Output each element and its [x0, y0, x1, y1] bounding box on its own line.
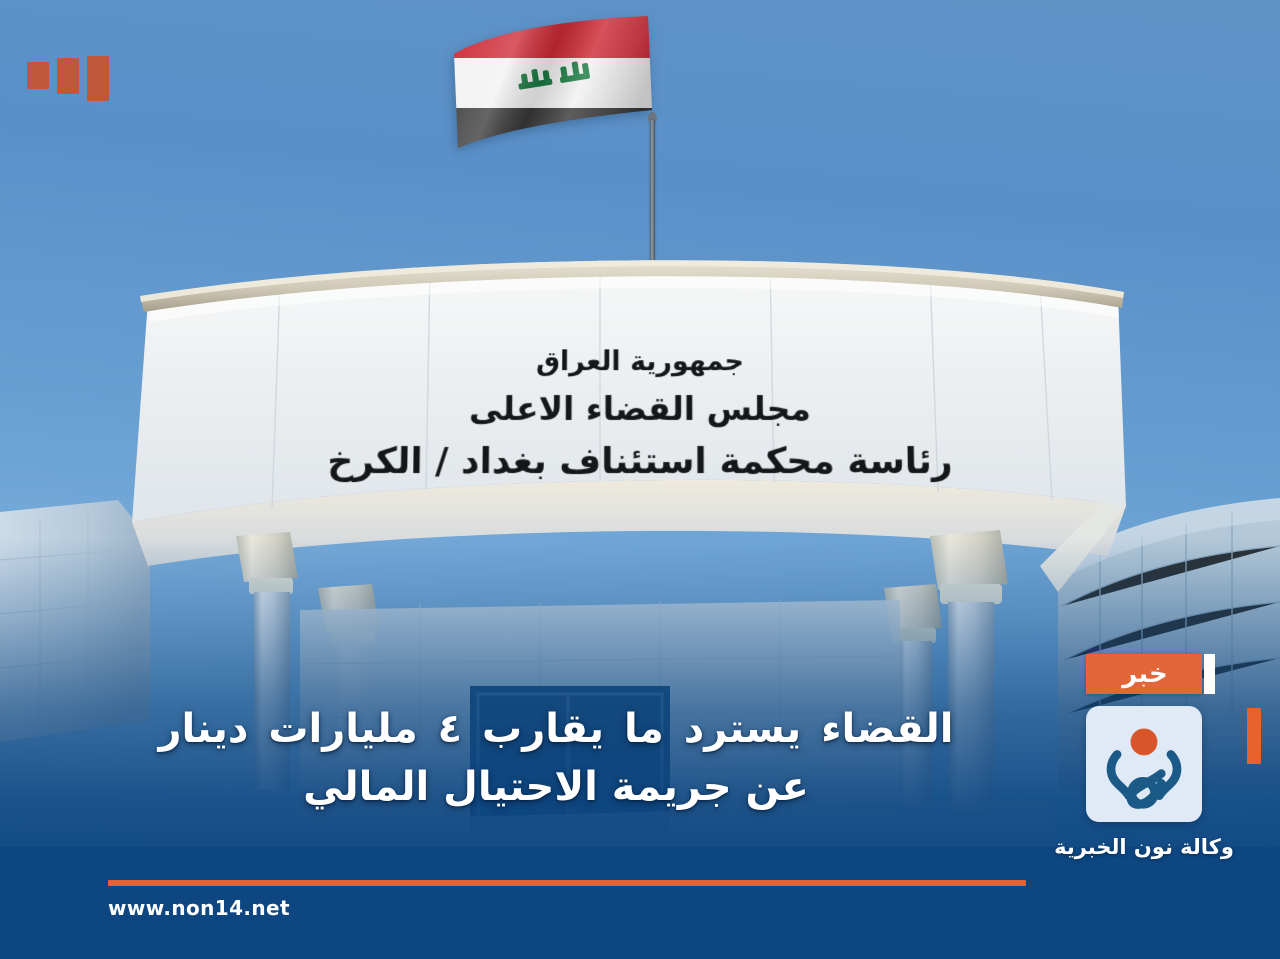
facade-sign: جمهورية العراق مجلس القضاء الاعلى رئاسة …: [0, 344, 1280, 486]
facade-sign-line-1: جمهورية العراق: [1, 344, 1278, 379]
news-badge-label: خبر: [1122, 661, 1168, 687]
noon-agency-logo: [1086, 706, 1202, 822]
headline-line-2: عن جريمة الاحتيال المالي: [60, 758, 1052, 816]
headline-accent-bar: [1247, 708, 1261, 764]
news-badge: خبر: [1086, 654, 1202, 694]
site-url[interactable]: www.non14.net: [108, 896, 290, 920]
headline-line-1: القضاء يسترد ما يقارب ٤ مليارات دينار: [60, 700, 1052, 758]
facade-sign-line-3: رئاسة محكمة استئناف بغداد / الكرخ: [0, 439, 1280, 486]
agency-name: وكالة نون الخبرية: [1054, 835, 1234, 859]
three-bars-mark-bar-2: [57, 58, 79, 94]
three-bars-mark: [27, 56, 109, 101]
three-bars-mark-bar-1: [87, 56, 109, 101]
brand-column: خبر وكالة نون الخبرية: [1060, 654, 1228, 859]
three-bars-mark-bar-3: [27, 62, 49, 89]
news-card: جمهورية العراق مجلس القضاء الاعلى رئاسة …: [0, 0, 1280, 959]
footer-divider: [108, 880, 1026, 886]
facade-sign-line-2: مجلس القضاء الاعلى: [0, 388, 1280, 431]
headline: القضاء يسترد ما يقارب ٤ مليارات دينار عن…: [60, 700, 1052, 816]
